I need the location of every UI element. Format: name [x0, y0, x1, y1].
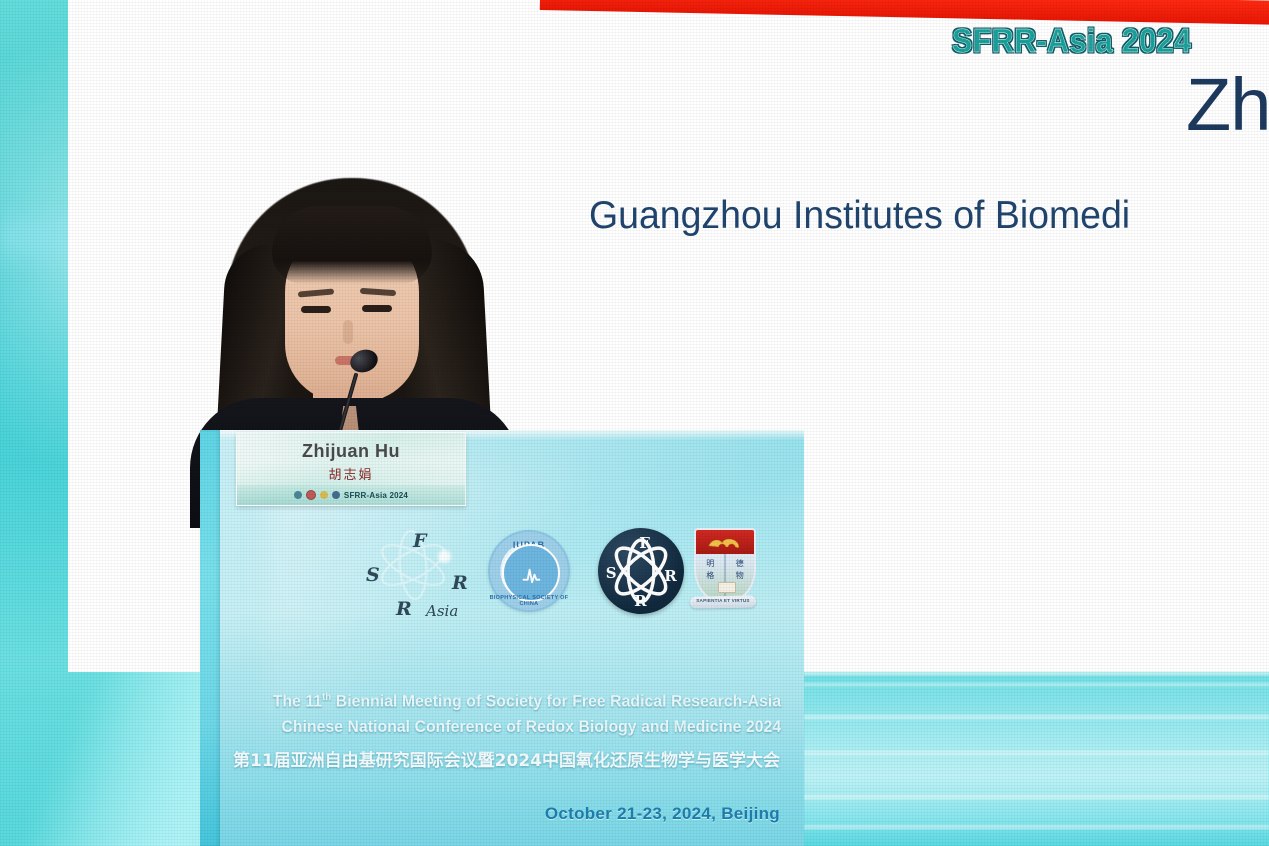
- seal-inner-disc: [502, 544, 560, 602]
- speaker-eye-left: [301, 306, 331, 313]
- conference-photo-stage: SFRR-Asia 2024 Zh Guangzhou Institutes o…: [0, 0, 1269, 846]
- crest-motto-scroll: SAPIENTIA ET VIRTUS: [690, 594, 756, 610]
- nameplate-footer-text: SFRR-Asia 2024: [344, 491, 408, 500]
- mini-sfrr-asia-icon: [294, 491, 302, 499]
- podium-logo-row: S F R R Asia IUPAB BIOPHYSICAL SOCIETY O…: [350, 520, 770, 620]
- speaker-nose: [343, 320, 353, 344]
- conference-date-location: October 21-23, 2024, Beijing: [220, 804, 804, 824]
- iupab-biophysical-society-seal: IUPAB BIOPHYSICAL SOCIETY OF CHINA: [488, 530, 570, 612]
- nameplate-mini-logos: [294, 490, 340, 500]
- mini-crest-icon: [320, 491, 328, 499]
- crest-characters: 明 德 格 物: [696, 558, 754, 581]
- lion-icon: [706, 534, 744, 550]
- sfrr-asia-sub-label: Asia: [426, 602, 458, 620]
- slide-affiliation: Guangzhou Institutes of Biomedi: [589, 194, 1130, 238]
- sfrr-asia-script-logo: S F R R Asia: [360, 524, 480, 620]
- slide-speaker-name: Zh: [1186, 62, 1269, 147]
- speaker-nameplate: Zhijuan Hu 胡志娟 SFRR-Asia 2024: [236, 432, 466, 506]
- led-wall-streak-bands: [804, 672, 1269, 846]
- mini-sfrr-icon: [332, 491, 340, 499]
- crest-open-book-icon: [718, 582, 736, 593]
- nameplate-name-en: Zhijuan Hu: [237, 441, 465, 462]
- sfrr-asia-letter-r2: R: [396, 598, 412, 620]
- sfrr-asia-letter-s: S: [366, 564, 380, 586]
- crest-motto-text: SAPIENTIA ET VIRTUS: [690, 598, 756, 603]
- seal-ring-text: BIOPHYSICAL SOCIETY OF CHINA: [488, 595, 570, 607]
- crest-shield: 明 德 格 物: [694, 528, 756, 602]
- conference-title-chinese: 第11届亚洲自由基研究国际会议暨2024中国氧化还原生物学与医学大会: [220, 746, 804, 771]
- conference-title-line-1: The 11th Biennial Meeting of Society for…: [249, 692, 804, 712]
- nameplate-name-cn: 胡志娟: [237, 464, 465, 483]
- sfrr-asia-letter-f: F: [413, 530, 427, 552]
- conference-title-line-2: Chinese National Conference of Redox Bio…: [249, 718, 804, 737]
- sfrr-letter-f: F: [639, 534, 650, 552]
- sfrr-letter-r1: R: [664, 567, 676, 585]
- crest-char-1: 明: [696, 558, 725, 569]
- sfrr-atom-logo: F S R R: [598, 528, 684, 614]
- speaker-figure: [180, 170, 540, 470]
- seal-emblem-icon: [519, 561, 544, 586]
- sfrr-asia-letter-r1: R: [452, 572, 468, 594]
- hku-crest-logo: 明 德 格 物 SAPIENTIA ET VIRTUS: [690, 528, 756, 614]
- slide-event-badge: SFRR-Asia 2024: [952, 22, 1191, 60]
- crest-char-2: 德: [726, 558, 755, 569]
- sfrr-letter-s: S: [606, 564, 617, 582]
- podium-left-edge: [200, 430, 220, 846]
- crest-char-4: 物: [726, 570, 755, 581]
- sfrr-letter-r2: R: [634, 592, 646, 610]
- mini-seal-icon: [306, 490, 316, 500]
- conference-title-rest: Biennial Meeting of Society for Free Rad…: [331, 693, 781, 711]
- podium: Zhijuan Hu 胡志娟 SFRR-Asia 2024: [200, 430, 804, 846]
- conference-title-prefix: The 11: [273, 693, 322, 711]
- speaker-hair-fringe: [272, 206, 432, 284]
- crest-char-3: 格: [696, 570, 725, 581]
- nameplate-footer: SFRR-Asia 2024: [237, 485, 465, 505]
- atom-nucleus-highlight: [438, 550, 451, 563]
- speaker-eye-right: [362, 305, 392, 312]
